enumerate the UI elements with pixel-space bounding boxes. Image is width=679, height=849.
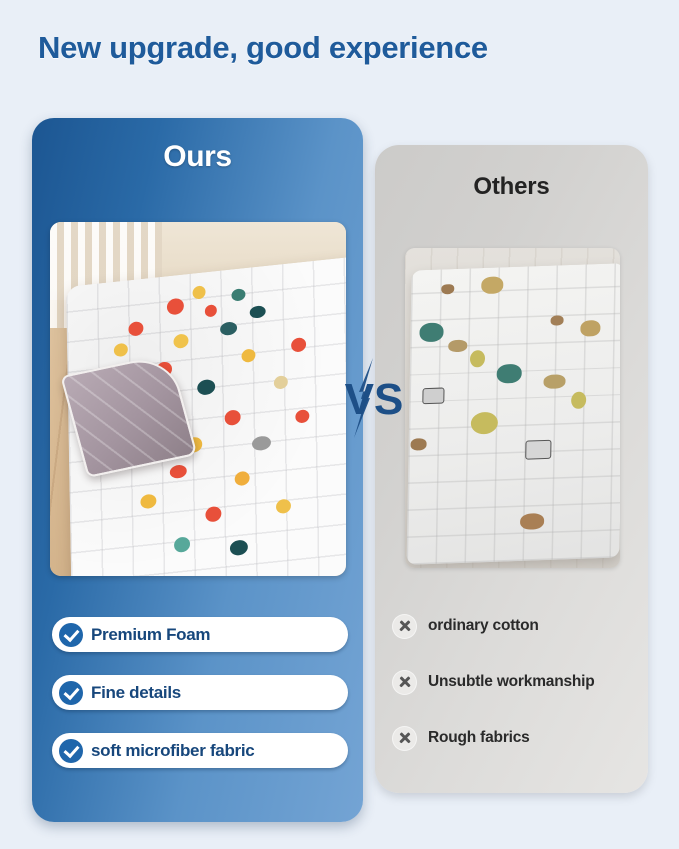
comparison-infographic: New upgrade, good experience Others <box>0 0 679 849</box>
house-motif <box>422 387 444 404</box>
page-title: New upgrade, good experience <box>38 30 488 66</box>
carrot-motif <box>193 285 206 299</box>
ours-photo-scene <box>50 222 346 576</box>
balloon-motif <box>571 391 586 409</box>
flower-motif <box>234 470 249 486</box>
flower-motif <box>128 321 143 337</box>
ours-panel: Ours <box>32 118 363 822</box>
flower-motif <box>169 464 186 479</box>
others-product-photo <box>405 248 620 568</box>
tree-motif <box>497 364 522 384</box>
feature-label: Fine details <box>91 683 181 703</box>
flower-motif <box>295 408 309 423</box>
flower-motif <box>205 506 221 523</box>
others-panel: Others <box>375 145 648 793</box>
folded-corner-foam <box>60 353 197 478</box>
check-circle-icon <box>59 681 83 705</box>
animal-motif <box>449 339 468 352</box>
animal-motif <box>411 438 427 451</box>
list-item: Fine details <box>52 675 348 710</box>
others-photo-scene <box>405 248 620 568</box>
flower-motif <box>173 535 189 552</box>
balloon-motif <box>470 351 485 369</box>
flower-motif <box>166 297 183 315</box>
list-item: soft microfiber fabric <box>52 733 348 768</box>
versus-label: VS <box>345 375 404 424</box>
drawback-label: Unsubtle workmanship <box>428 673 595 691</box>
mushroom-motif <box>251 435 270 451</box>
leaf-motif <box>231 287 245 301</box>
quilted-mattress-pad <box>66 255 346 576</box>
animal-motif <box>551 315 564 325</box>
feature-label: soft microfiber fabric <box>91 741 254 761</box>
animal-motif <box>581 320 601 337</box>
balloon-motif <box>471 412 498 435</box>
flower-motif <box>224 409 240 426</box>
animal-motif <box>482 276 504 294</box>
quilted-mat <box>407 263 620 565</box>
animal-motif <box>441 284 454 294</box>
x-circle-icon <box>392 670 417 695</box>
mushroom-motif <box>197 379 215 396</box>
animal-motif <box>520 514 544 531</box>
flower-motif <box>173 333 188 349</box>
carrot-motif <box>114 342 128 357</box>
mushroom-motif <box>220 321 237 336</box>
others-drawback-list: ordinary cotton Unsubtle workmanship Rou… <box>392 607 642 775</box>
house-motif <box>526 440 552 460</box>
flower-motif <box>205 303 217 316</box>
drawback-label: ordinary cotton <box>428 617 539 635</box>
check-circle-icon <box>59 739 83 763</box>
ours-feature-list: Premium Foam Fine details soft microfibe… <box>52 617 348 791</box>
carrot-motif <box>241 348 255 363</box>
feature-label: Premium Foam <box>91 625 210 645</box>
carrot-motif <box>140 493 156 509</box>
others-heading: Others <box>375 173 648 201</box>
animal-motif <box>544 374 566 389</box>
list-item: Premium Foam <box>52 617 348 652</box>
ours-product-photo <box>50 222 346 576</box>
flower-motif <box>291 337 306 353</box>
list-item: Unsubtle workmanship <box>392 663 642 701</box>
leaf-motif <box>249 305 265 319</box>
list-item: Rough fabrics <box>392 719 642 757</box>
mushroom-motif <box>229 539 247 556</box>
drawback-label: Rough fabrics <box>428 729 530 747</box>
check-circle-icon <box>59 623 83 647</box>
tree-motif <box>419 323 443 343</box>
x-circle-icon <box>392 614 417 639</box>
ours-heading: Ours <box>32 140 363 174</box>
x-circle-icon <box>392 726 417 751</box>
leaf-motif <box>276 499 291 515</box>
list-item: ordinary cotton <box>392 607 642 645</box>
versus-badge: VS <box>337 362 411 434</box>
flower-motif <box>274 374 288 389</box>
